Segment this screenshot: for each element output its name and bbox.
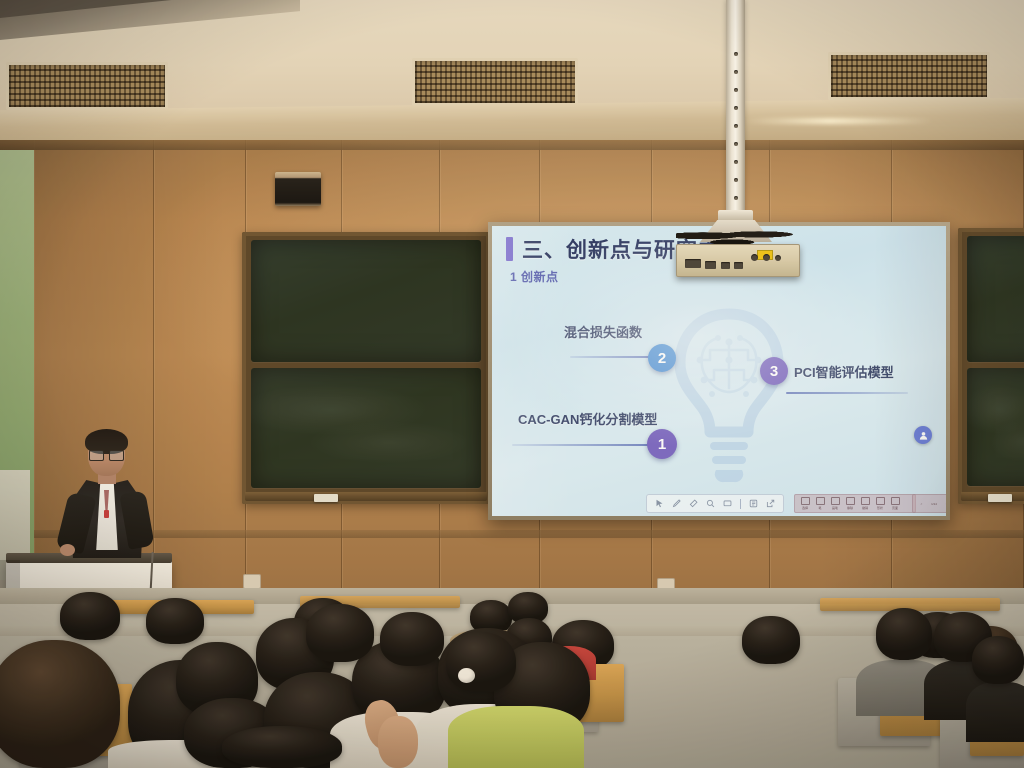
node-3-label: PCI智能评估模型 — [794, 362, 894, 381]
ceiling-vent-center — [412, 58, 578, 106]
blackboard-right — [958, 228, 1024, 504]
slide-subtitle: 1 创新点 — [510, 268, 559, 285]
wall-speaker — [275, 172, 321, 206]
zoom-tool-icon[interactable] — [703, 497, 718, 511]
audience-head-back-1 — [60, 592, 120, 640]
node-1-circle[interactable]: 1 — [647, 429, 677, 459]
lecture-hall-scene: 三、创新点与研究内容 1 创新点 — [0, 0, 1024, 768]
audience-shoulders-fg-9 — [448, 706, 584, 768]
presenter-hand — [60, 544, 75, 556]
secondary-tool-erase[interactable]: 擦除 — [844, 497, 856, 510]
node-2-circle[interactable]: 2 — [648, 344, 676, 372]
audience-head-back-6 — [742, 616, 800, 664]
projector-mount-pole — [726, 0, 745, 214]
node-1-rule — [512, 444, 650, 446]
blackboard-right-pane-bottom — [967, 368, 1024, 486]
page-indicator: 1/14 — [929, 497, 939, 510]
presenter-glasses — [89, 450, 124, 459]
secondary-tool-select[interactable]: 选择 — [799, 497, 811, 510]
secondary-tool-shape[interactable]: 形状 — [874, 497, 886, 510]
hair-scrunchie — [458, 668, 475, 683]
node-2-rule — [570, 356, 652, 358]
node-2-number: 2 — [658, 350, 666, 367]
pen-tool-icon[interactable] — [669, 497, 684, 511]
title-accent-bar — [506, 237, 513, 261]
wall-outlet-left — [243, 574, 261, 589]
secondary-tool-pen[interactable]: 笔 — [814, 497, 826, 510]
chalk-eraser-right[interactable] — [988, 494, 1012, 502]
page-next-button[interactable]: > — [942, 497, 946, 510]
audience-head-fg-11 — [446, 632, 516, 692]
blackboard-left-pane-bottom — [251, 368, 481, 488]
ceiling-light-glow — [744, 118, 934, 124]
audience-head-fg-13 — [380, 612, 444, 666]
audience-shoulders-r5 — [966, 682, 1024, 742]
audience-head-fg-1 — [0, 640, 120, 768]
secondary-tool-panel[interactable]: 选择 笔 画笔 擦除 撤销 形状 页面 — [794, 494, 916, 513]
node-3-number: 3 — [770, 363, 778, 380]
blackboard-right-pane-top — [967, 236, 1024, 362]
node-1-label: CAC-GAN钙化分割模型 — [518, 409, 657, 428]
presenter-lapel-badge — [104, 510, 109, 518]
audience-head-fg-12 — [306, 604, 374, 662]
audience-head-back-2 — [146, 598, 204, 644]
audience-head-r5 — [972, 636, 1024, 684]
user-account-icon[interactable] — [914, 426, 932, 444]
annotation-toolbar[interactable] — [646, 494, 784, 513]
node-3-circle[interactable]: 3 — [760, 357, 788, 385]
node-1-number: 1 — [658, 436, 666, 453]
ceiling-vent-left — [6, 62, 168, 110]
eraser-tool-icon[interactable] — [686, 497, 701, 511]
secondary-tool-page[interactable]: 页面 — [889, 497, 901, 510]
chalk-eraser-left[interactable] — [314, 494, 338, 502]
ceiling-vent-right — [828, 52, 990, 100]
blackboard-left-ledge — [245, 492, 487, 501]
toolbar-separator — [740, 499, 741, 509]
blackboard-left — [242, 232, 490, 504]
page-prev-button[interactable]: < — [917, 497, 926, 510]
node-3-rule — [786, 392, 908, 394]
notes-tool-icon[interactable] — [746, 497, 761, 511]
cursor-tool-icon[interactable] — [652, 497, 667, 511]
page-nav-panel[interactable]: < 1/14 > — [912, 494, 946, 513]
ceiling-projector — [676, 244, 800, 277]
audience-hand-fg-9 — [378, 716, 418, 768]
audience-head-r3 — [876, 608, 932, 660]
node-2-label: 混合损失函数 — [564, 322, 642, 341]
lightbulb-brain-icon — [670, 308, 788, 498]
secondary-tool-brush[interactable]: 画笔 — [829, 497, 841, 510]
frame-tool-icon[interactable] — [720, 497, 735, 511]
export-tool-icon[interactable] — [763, 497, 778, 511]
audience-head-fg-10 — [222, 726, 342, 768]
blackboard-left-pane-top — [251, 240, 481, 362]
secondary-tool-undo[interactable]: 撤销 — [859, 497, 871, 510]
presenter — [62, 432, 150, 572]
